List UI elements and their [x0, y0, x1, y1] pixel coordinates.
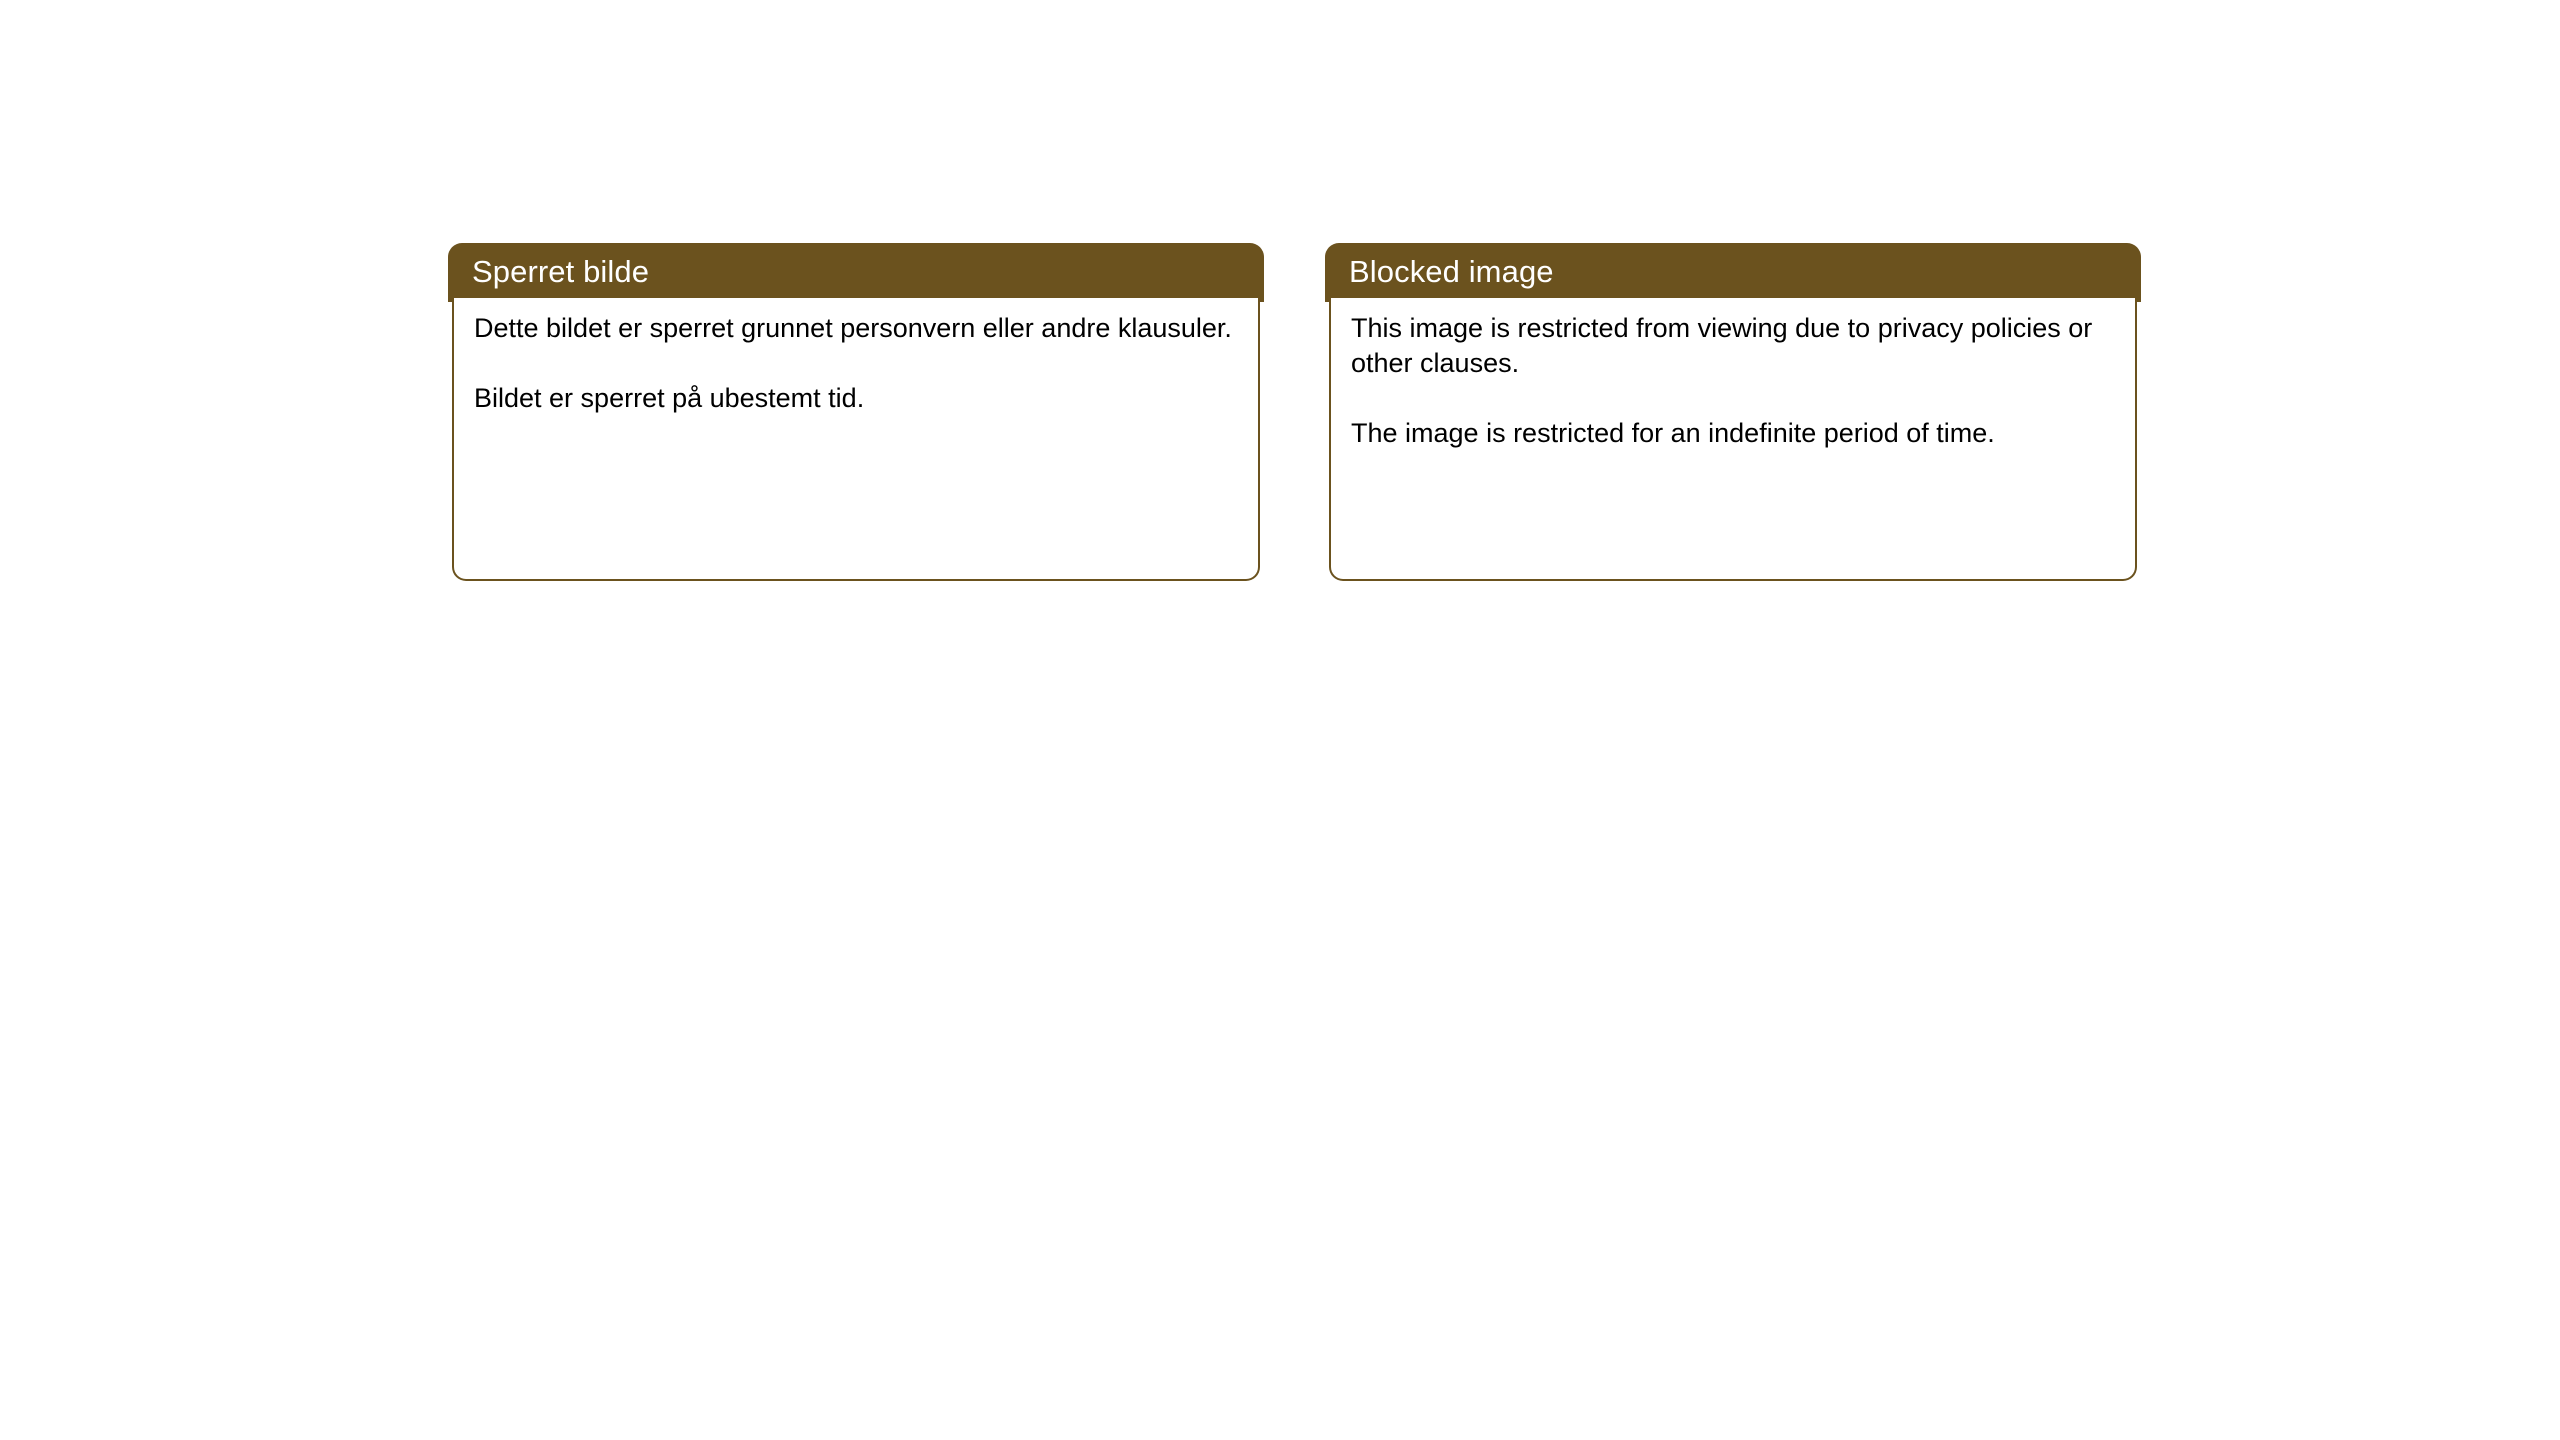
- card-body-norwegian: Dette bildet er sperret grunnet personve…: [452, 298, 1260, 581]
- paragraph-spacer: [1351, 381, 2115, 416]
- card-header-norwegian: Sperret bilde: [448, 243, 1264, 302]
- card-title-norwegian: Sperret bilde: [472, 251, 649, 293]
- blocked-image-card-english: Blocked image This image is restricted f…: [1325, 243, 2141, 581]
- card-paragraph-secondary-norwegian: Bildet er sperret på ubestemt tid.: [474, 381, 1238, 416]
- card-body-english: This image is restricted from viewing du…: [1329, 298, 2137, 581]
- paragraph-spacer: [474, 346, 1238, 381]
- card-title-english: Blocked image: [1349, 251, 1554, 293]
- blocked-image-card-norwegian: Sperret bilde Dette bildet er sperret gr…: [448, 243, 1264, 581]
- card-paragraph-secondary-english: The image is restricted for an indefinit…: [1351, 416, 2115, 451]
- card-paragraph-primary-norwegian: Dette bildet er sperret grunnet personve…: [474, 311, 1238, 346]
- card-paragraph-primary-english: This image is restricted from viewing du…: [1351, 311, 2115, 381]
- page-canvas: Sperret bilde Dette bildet er sperret gr…: [0, 0, 2560, 1440]
- card-header-english: Blocked image: [1325, 243, 2141, 302]
